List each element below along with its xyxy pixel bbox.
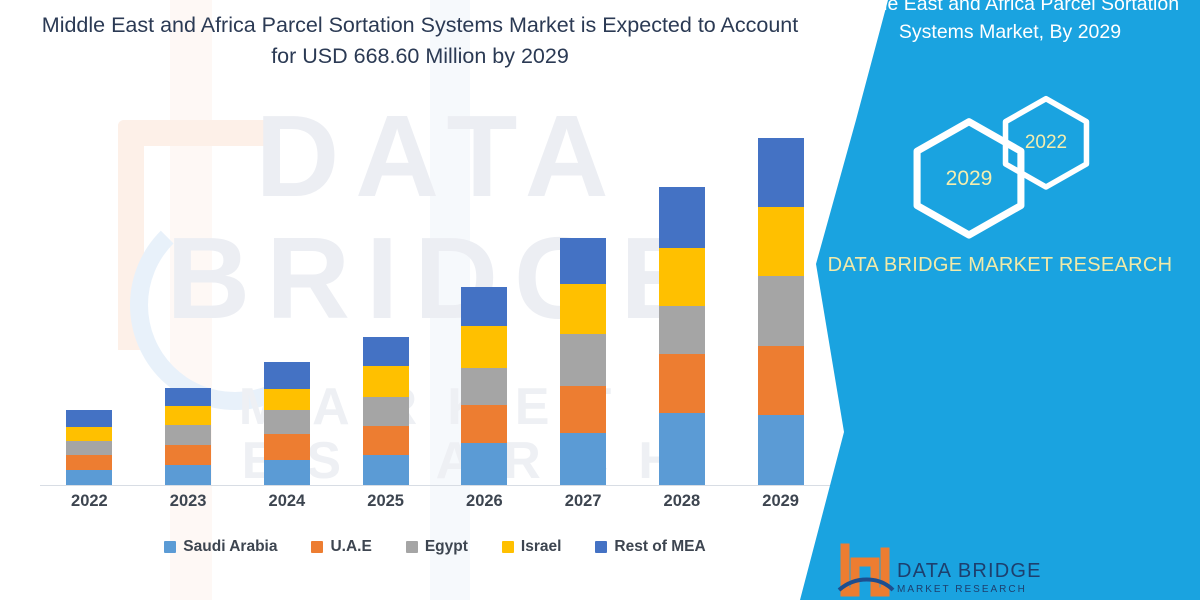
legend-label: Egypt — [425, 538, 468, 556]
footer-logo-subtext: MARKET RESEARCH — [897, 584, 1027, 595]
bar-segment — [363, 426, 409, 455]
bar-segment — [66, 455, 112, 470]
bar-segment — [560, 433, 606, 485]
legend-label: Rest of MEA — [614, 538, 705, 556]
hexagon-end-year-label: 2029 — [946, 167, 993, 191]
x-axis-labels: 20222023202420252026202720282029 — [40, 492, 830, 511]
bar-segment — [560, 386, 606, 434]
legend-item[interactable]: Egypt — [406, 538, 468, 556]
bar-segment — [461, 443, 507, 485]
brand-name: DATA BRIDGE MARKET RESEARCH — [810, 250, 1190, 280]
chart-legend: Saudi ArabiaU.A.EEgyptIsraelRest of MEA — [40, 538, 830, 556]
bar-segment — [264, 434, 310, 460]
legend-label: Saudi Arabia — [183, 538, 277, 556]
bar-segment — [66, 470, 112, 485]
bar-segment — [659, 187, 705, 249]
bar-column — [440, 287, 528, 485]
bar-segment — [758, 207, 804, 277]
legend-item[interactable]: Saudi Arabia — [164, 538, 277, 556]
bar-column — [638, 187, 726, 485]
plot-area — [40, 90, 830, 486]
bar-stack-2028 — [659, 187, 705, 485]
x-axis-label: 2022 — [45, 492, 133, 511]
x-axis-label: 2025 — [342, 492, 430, 511]
legend-swatch-icon — [311, 541, 323, 553]
bar-column — [539, 238, 627, 485]
logo-bridge-icon — [835, 542, 895, 598]
bar-segment — [758, 346, 804, 416]
bar-segment — [659, 354, 705, 414]
bar-segment — [560, 334, 606, 386]
footer-logo-text: DATA BRIDGE — [897, 560, 1042, 583]
bar-segment — [66, 410, 112, 428]
bar-stack-2026 — [461, 287, 507, 485]
hexagon-start-year-label: 2022 — [1025, 132, 1067, 154]
legend-swatch-icon — [502, 541, 514, 553]
x-axis-label: 2028 — [638, 492, 726, 511]
legend-swatch-icon — [164, 541, 176, 553]
x-axis-label: 2023 — [144, 492, 232, 511]
bar-segment — [165, 425, 211, 445]
chart-panel: DATA BRIDGE MARKET RESEARCH Middle East … — [0, 0, 880, 600]
brand-panel-title: Middle East and Africa Parcel Sortation … — [820, 0, 1200, 47]
bar-stack-2027 — [560, 238, 606, 485]
bar-segment — [363, 366, 409, 397]
x-axis-label: 2027 — [539, 492, 627, 511]
bar-segment — [165, 406, 211, 426]
bar-segment — [165, 388, 211, 406]
bar-segment — [560, 238, 606, 284]
bar-column — [342, 337, 430, 485]
bar-column — [243, 362, 331, 485]
bar-column — [45, 410, 133, 486]
x-axis-label: 2026 — [440, 492, 528, 511]
brand-panel: Middle East and Africa Parcel Sortation … — [800, 0, 1200, 600]
bar-segment — [264, 362, 310, 389]
bar-segment — [363, 397, 409, 427]
legend-label: Israel — [521, 538, 562, 556]
legend-swatch-icon — [406, 541, 418, 553]
bar-segment — [758, 138, 804, 207]
bar-segment — [165, 445, 211, 465]
bar-segment — [363, 455, 409, 485]
bar-segment — [264, 460, 310, 485]
legend-item[interactable]: U.A.E — [311, 538, 371, 556]
bar-segment — [461, 326, 507, 368]
bar-stack-2023 — [165, 388, 211, 485]
legend-swatch-icon — [595, 541, 607, 553]
bar-stack-2025 — [363, 337, 409, 485]
bar-segment — [659, 306, 705, 354]
bar-segment — [461, 368, 507, 406]
brand-panel-background — [800, 0, 1200, 600]
bar-segment — [363, 337, 409, 366]
bar-segment — [659, 248, 705, 306]
bar-stack-2029 — [758, 138, 804, 485]
x-axis-label: 2024 — [243, 492, 331, 511]
chart-title: Middle East and Africa Parcel Sortation … — [40, 10, 800, 71]
bar-segment — [66, 427, 112, 441]
bar-segment — [758, 415, 804, 485]
legend-item[interactable]: Israel — [502, 538, 562, 556]
legend-label: U.A.E — [330, 538, 371, 556]
x-axis-line — [40, 485, 830, 486]
bar-stack-2024 — [264, 362, 310, 485]
footer-logo: DATA BRIDGE MARKET RESEARCH — [835, 542, 1165, 600]
bar-group — [40, 90, 830, 485]
bar-segment — [560, 284, 606, 334]
legend-item[interactable]: Rest of MEA — [595, 538, 705, 556]
bar-segment — [461, 405, 507, 443]
bar-column — [144, 388, 232, 485]
bar-stack-2022 — [66, 410, 112, 486]
hexagon-badge-end-year: 2029 — [910, 117, 1028, 241]
bar-segment — [66, 441, 112, 455]
bar-segment — [461, 287, 507, 326]
bar-segment — [264, 410, 310, 434]
bar-segment — [758, 276, 804, 346]
bar-segment — [659, 413, 705, 485]
bar-segment — [264, 389, 310, 411]
bar-segment — [165, 465, 211, 485]
hexagon-year-badges: 2022 2029 — [900, 95, 1120, 240]
